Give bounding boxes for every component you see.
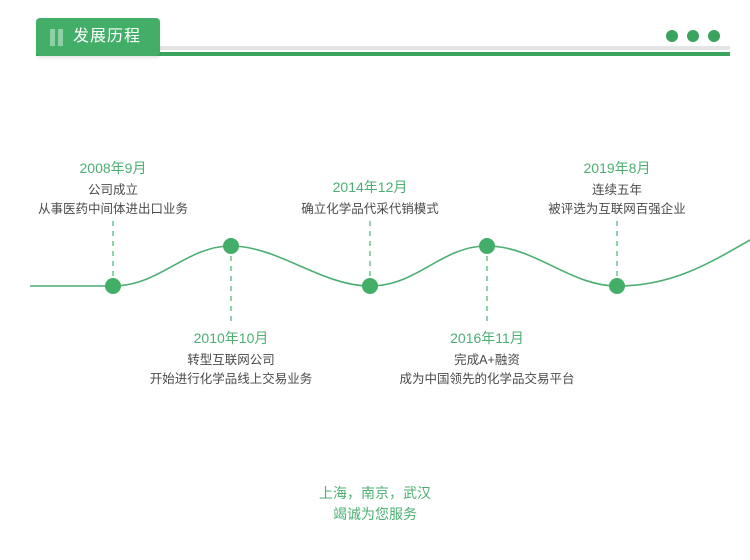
milestone-description: 确立化学品代采代销模式 [301,200,439,219]
milestone-description: 公司成立从事医药中间体进出口业务 [38,181,188,219]
page-footer: 上海，南京，武汉 竭诚为您服务 [0,470,750,530]
section-title-badge: 发展历程 [36,18,160,56]
milestone-description-line: 开始进行化学品线上交易业务 [150,370,313,389]
footer-line-2: 竭诚为您服务 [0,504,750,525]
footer-text: 上海，南京，武汉 竭诚为您服务 [0,483,750,525]
milestone-description-line: 转型互联网公司 [150,351,313,370]
timeline-curve [113,240,750,286]
timeline: 2008年9月公司成立从事医药中间体进出口业务2010年10月转型互联网公司开始… [0,100,750,400]
milestone-description: 连续五年被评选为互联网百强企业 [548,181,686,219]
milestone-description: 完成A+融资成为中国领先的化学品交易平台 [399,351,574,389]
milestone-description-line: 确立化学品代采代销模式 [301,200,439,219]
milestone-year: 2008年9月 [38,158,188,178]
timeline-connectors [113,218,617,324]
milestone-dot[interactable] [479,238,495,254]
milestone: 2014年12月确立化学品代采代销模式 [301,177,439,219]
page-title: 发展历程 [73,29,141,45]
milestone-description-line: 从事医药中间体进出口业务 [38,200,188,219]
milestone-description-line: 公司成立 [38,181,188,200]
page-header: 发展历程 [0,0,750,70]
milestone-dot[interactable] [362,278,378,294]
footer-line-1: 上海，南京，武汉 [0,483,750,504]
pause-bars-icon [50,29,63,46]
milestone-description-line: 连续五年 [548,181,686,200]
milestone-dot[interactable] [609,278,625,294]
three-dots-icon [666,30,720,42]
milestone: 2008年9月公司成立从事医药中间体进出口业务 [38,158,188,219]
milestone-year: 2014年12月 [301,177,439,197]
milestone-dot[interactable] [105,278,121,294]
milestone: 2016年11月完成A+融资成为中国领先的化学品交易平台 [399,328,574,389]
milestone-dot[interactable] [223,238,239,254]
milestone-description-line: 完成A+融资 [399,351,574,370]
milestone-description-line: 成为中国领先的化学品交易平台 [399,370,574,389]
milestone: 2010年10月转型互联网公司开始进行化学品线上交易业务 [150,328,313,389]
milestone: 2019年8月连续五年被评选为互联网百强企业 [548,158,686,219]
milestone-year: 2016年11月 [399,328,574,348]
timeline-wave [0,100,750,400]
milestone-description-line: 被评选为互联网百强企业 [548,200,686,219]
milestone-year: 2019年8月 [548,158,686,178]
timeline-dots [105,238,625,294]
milestone-description: 转型互联网公司开始进行化学品线上交易业务 [150,351,313,389]
milestone-year: 2010年10月 [150,328,313,348]
header-rule-gray [150,46,730,50]
